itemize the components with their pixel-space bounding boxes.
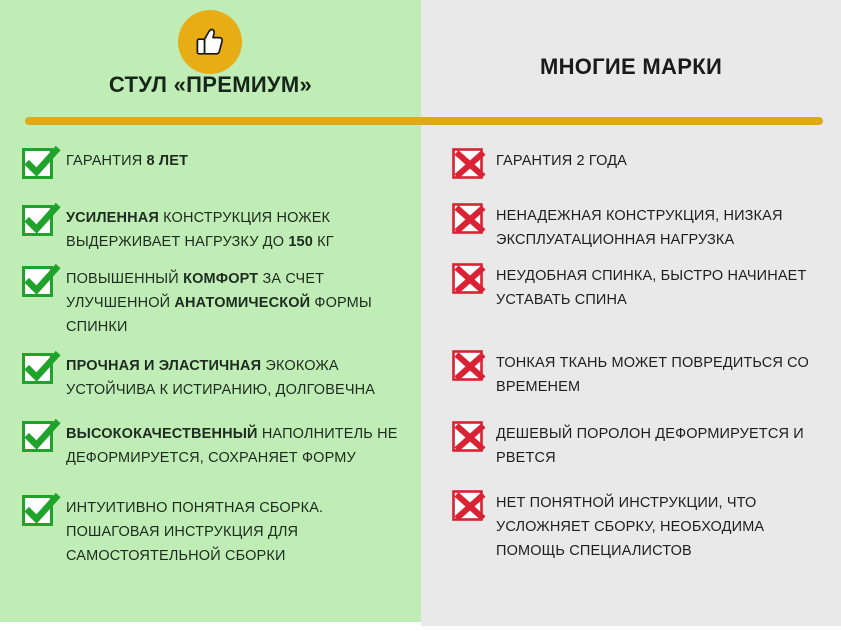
header-divider-bar: [25, 117, 823, 125]
list-item: ПРОЧНАЯ И ЭЛАСТИЧНАЯ ЭКОКОЖА УСТОЙЧИВА К…: [22, 353, 417, 402]
checkbox-checked-icon: [22, 148, 52, 178]
list-item: ГАРАНТИЯ 8 ЛЕТ: [22, 148, 188, 178]
checkbox-crossed-icon: [452, 421, 482, 451]
right-column-title: МНОГИЕ МАРКИ: [421, 54, 841, 80]
list-item: НЕУДОБНАЯ СПИНКА, БЫСТРО НАЧИНАЕТ УСТАВА…: [452, 263, 832, 312]
checkbox-checked-icon: [22, 421, 52, 451]
checkbox-crossed-icon: [452, 263, 482, 293]
list-item: НЕНАДЕЖНАЯ КОНСТРУКЦИЯ, НИЗКАЯ ЭКСПЛУАТА…: [452, 203, 832, 252]
list-item: ВЫСОКОКАЧЕСТВЕННЫЙ НАПОЛНИТЕЛЬ НЕ ДЕФОРМ…: [22, 421, 417, 470]
list-item-label: ИНТУИТИВНО ПОНЯТНАЯ СБОРКА. ПОШАГОВАЯ ИН…: [66, 495, 417, 568]
list-item-label: УСИЛЕННАЯ КОНСТРУКЦИЯ НОЖЕК ВЫДЕРЖИВАЕТ …: [66, 205, 417, 254]
list-item: ГАРАНТИЯ 2 ГОДА: [452, 148, 627, 178]
list-item-label: ВЫСОКОКАЧЕСТВЕННЫЙ НАПОЛНИТЕЛЬ НЕ ДЕФОРМ…: [66, 421, 417, 470]
checkbox-checked-icon: [22, 495, 52, 525]
list-item-label: НЕУДОБНАЯ СПИНКА, БЫСТРО НАЧИНАЕТ УСТАВА…: [496, 263, 832, 312]
checkbox-checked-icon: [22, 205, 52, 235]
list-item: УСИЛЕННАЯ КОНСТРУКЦИЯ НОЖЕК ВЫДЕРЖИВАЕТ …: [22, 205, 417, 254]
checkbox-checked-icon: [22, 266, 52, 296]
list-item: ИНТУИТИВНО ПОНЯТНАЯ СБОРКА. ПОШАГОВАЯ ИН…: [22, 495, 417, 568]
list-item: ТОНКАЯ ТКАНЬ МОЖЕТ ПОВРЕДИТЬСЯ СО ВРЕМЕН…: [452, 350, 832, 399]
list-item-label: ПОВЫШЕННЫЙ КОМФОРТ ЗА СЧЕТ УЛУЧШЕННОЙ АН…: [66, 266, 417, 339]
checkbox-crossed-icon: [452, 490, 482, 520]
left-column-title: СТУЛ «ПРЕМИУМ»: [0, 72, 421, 98]
list-item-label: ПРОЧНАЯ И ЭЛАСТИЧНАЯ ЭКОКОЖА УСТОЙЧИВА К…: [66, 353, 417, 402]
list-item-label: НЕНАДЕЖНАЯ КОНСТРУКЦИЯ, НИЗКАЯ ЭКСПЛУАТА…: [496, 203, 832, 252]
comparison-infographic: СТУЛ «ПРЕМИУМ» МНОГИЕ МАРКИ ГАРАНТИЯ 8 Л…: [0, 0, 841, 631]
list-item: ДЕШЕВЫЙ ПОРОЛОН ДЕФОРМИРУЕТСЯ И РВЕТСЯ: [452, 421, 832, 470]
checkbox-crossed-icon: [452, 148, 482, 178]
list-item-label: НЕТ ПОНЯТНОЙ ИНСТРУКЦИИ, ЧТО УСЛОЖНЯЕТ С…: [496, 490, 832, 563]
list-item-label: ДЕШЕВЫЙ ПОРОЛОН ДЕФОРМИРУЕТСЯ И РВЕТСЯ: [496, 421, 832, 470]
checkbox-crossed-icon: [452, 350, 482, 380]
list-item-label: ТОНКАЯ ТКАНЬ МОЖЕТ ПОВРЕДИТЬСЯ СО ВРЕМЕН…: [496, 350, 832, 399]
list-item: ПОВЫШЕННЫЙ КОМФОРТ ЗА СЧЕТ УЛУЧШЕННОЙ АН…: [22, 266, 417, 339]
bottom-strip-right: [421, 626, 841, 631]
bottom-strip-left: [0, 622, 421, 631]
thumbs-up-icon: [178, 10, 242, 74]
list-item-label: ГАРАНТИЯ 8 ЛЕТ: [66, 148, 188, 173]
list-item: НЕТ ПОНЯТНОЙ ИНСТРУКЦИИ, ЧТО УСЛОЖНЯЕТ С…: [452, 490, 832, 563]
checkbox-checked-icon: [22, 353, 52, 383]
checkbox-crossed-icon: [452, 203, 482, 233]
list-item-label: ГАРАНТИЯ 2 ГОДА: [496, 148, 627, 173]
